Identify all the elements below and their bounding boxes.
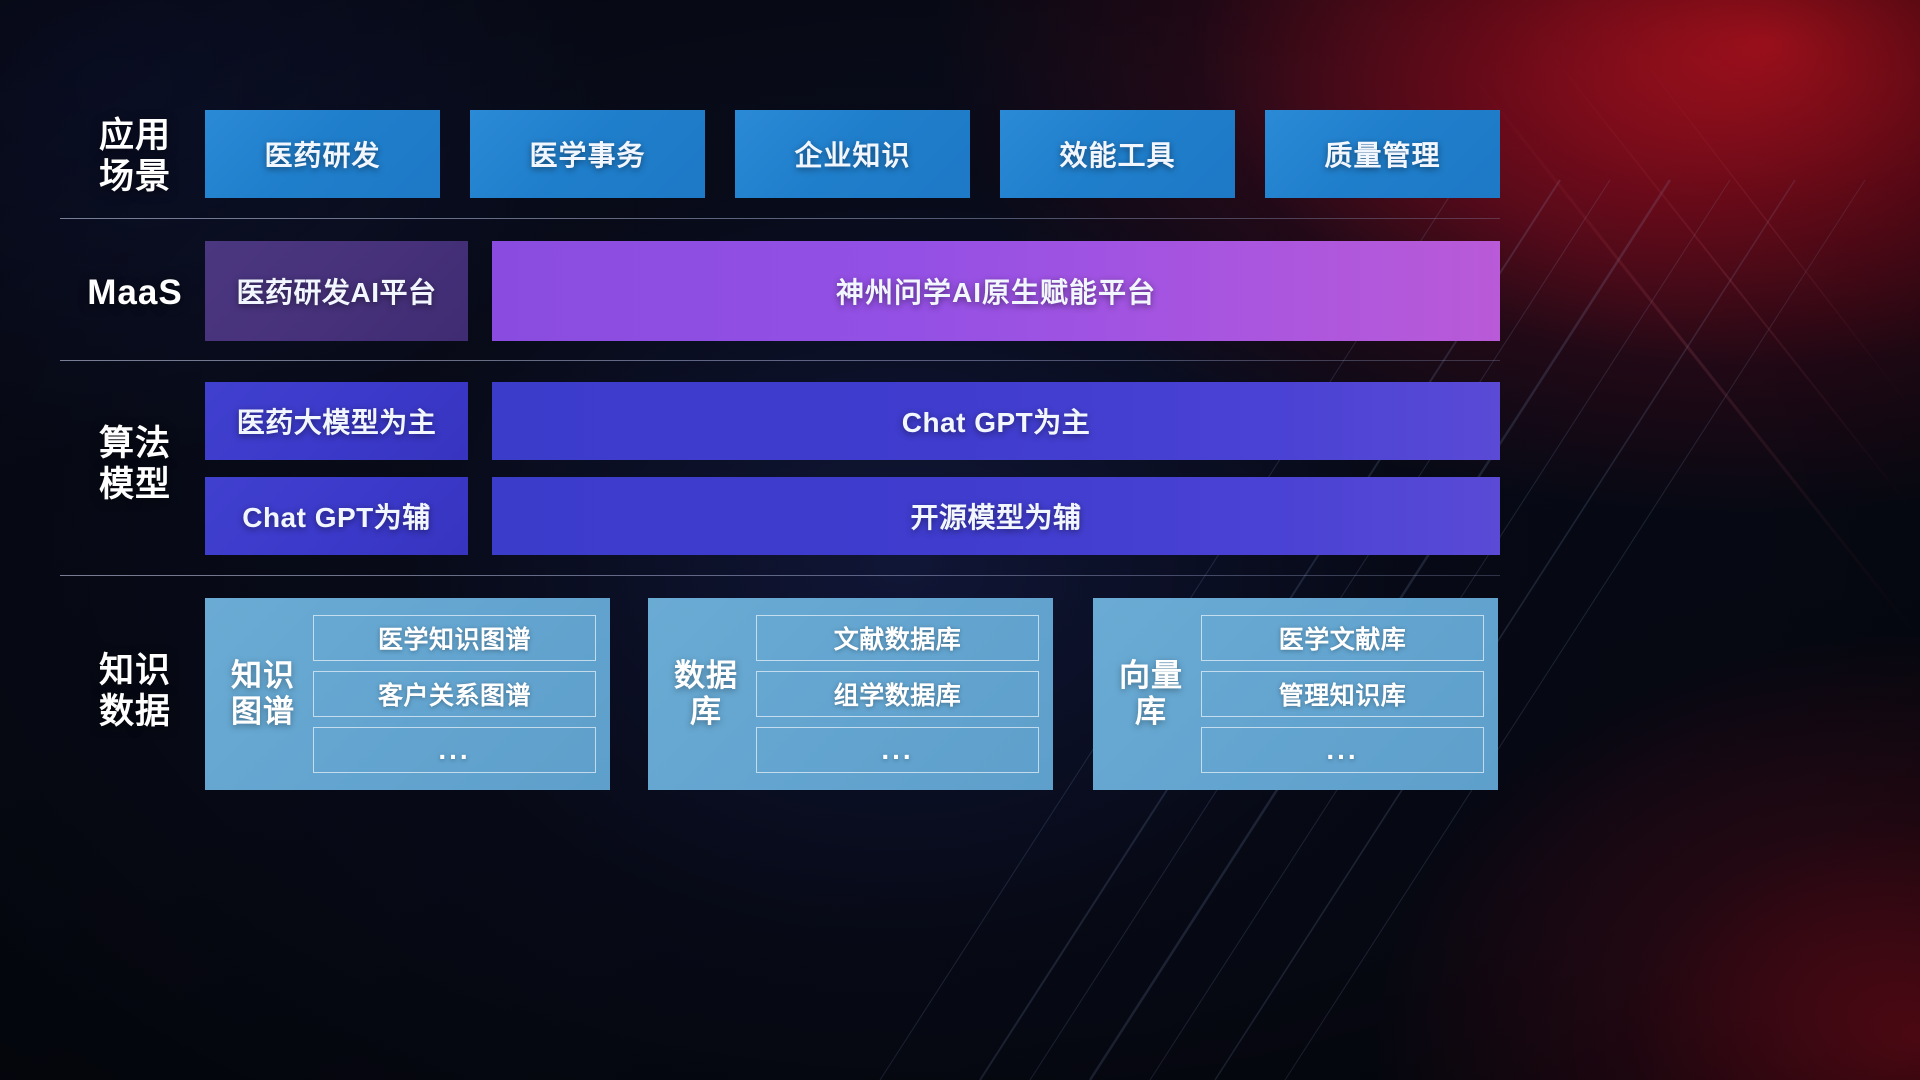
knowledge-panel-items: 文献数据库 组学数据库 ... [738, 615, 1039, 773]
knowledge-panel-items: 医学知识图谱 客户关系图谱 ... [295, 615, 596, 773]
app-box-label: 医学事务 [529, 134, 645, 174]
knowledge-panel-title: 知识图谱 [231, 658, 295, 730]
algo-left-box-1[interactable]: Chat GPT为辅 [205, 477, 468, 555]
maas-main-label: 神州问学AI原生赋能平台 [836, 271, 1156, 311]
app-box-0[interactable]: 医药研发 [205, 110, 440, 198]
app-box-4[interactable]: 质量管理 [1265, 110, 1500, 198]
app-box-1[interactable]: 医学事务 [470, 110, 705, 198]
app-box-3[interactable]: 效能工具 [1000, 110, 1235, 198]
architecture-diagram: 应用场景 医药研发 医学事务 企业知识 效能工具 质量管理 MaaS 医药研发A… [0, 0, 1920, 1080]
app-box-label: 质量管理 [1324, 134, 1440, 174]
algo-main-label: 开源模型为辅 [910, 496, 1081, 536]
algo-main-box-0[interactable]: Chat GPT为主 [492, 382, 1500, 460]
maas-main-box[interactable]: 神州问学AI原生赋能平台 [492, 241, 1500, 341]
knowledge-panel-2[interactable]: 向量库 医学文献库 管理知识库 ... [1093, 598, 1498, 790]
knowledge-item-more[interactable]: ... [1201, 727, 1484, 773]
divider-algorithm-knowledge [60, 575, 1500, 576]
knowledge-item[interactable]: 医学文献库 [1201, 615, 1484, 661]
knowledge-item-more[interactable]: ... [313, 727, 596, 773]
knowledge-panel-title: 向量库 [1119, 658, 1183, 730]
maas-left-label: 医药研发AI平台 [236, 271, 436, 311]
knowledge-item[interactable]: 医学知识图谱 [313, 615, 596, 661]
maas-left-box[interactable]: 医药研发AI平台 [205, 241, 468, 341]
knowledge-panel-1[interactable]: 数据库 文献数据库 组学数据库 ... [648, 598, 1053, 790]
knowledge-panel-title: 数据库 [674, 658, 738, 730]
knowledge-item[interactable]: 管理知识库 [1201, 671, 1484, 717]
knowledge-panel-items: 医学文献库 管理知识库 ... [1183, 615, 1484, 773]
row-label-knowledge: 知识数据 [70, 650, 200, 733]
knowledge-item[interactable]: 文献数据库 [756, 615, 1039, 661]
row-label-maas: MaaS [70, 272, 200, 313]
algo-main-label: Chat GPT为主 [902, 401, 1091, 441]
knowledge-panel-0[interactable]: 知识图谱 医学知识图谱 客户关系图谱 ... [205, 598, 610, 790]
algo-main-box-1[interactable]: 开源模型为辅 [492, 477, 1500, 555]
knowledge-item[interactable]: 客户关系图谱 [313, 671, 596, 717]
divider-maas-algorithm [60, 360, 1500, 361]
row-label-algorithm: 算法模型 [70, 423, 200, 506]
algo-left-label: Chat GPT为辅 [242, 496, 431, 536]
app-box-2[interactable]: 企业知识 [735, 110, 970, 198]
knowledge-item-more[interactable]: ... [756, 727, 1039, 773]
app-box-label: 企业知识 [794, 134, 910, 174]
row-label-application: 应用场景 [70, 115, 200, 198]
knowledge-item[interactable]: 组学数据库 [756, 671, 1039, 717]
app-box-label: 效能工具 [1059, 134, 1175, 174]
algo-left-label: 医药大模型为主 [237, 401, 437, 441]
divider-application-maas [60, 218, 1500, 219]
app-box-label: 医药研发 [264, 134, 380, 174]
algo-left-box-0[interactable]: 医药大模型为主 [205, 382, 468, 460]
